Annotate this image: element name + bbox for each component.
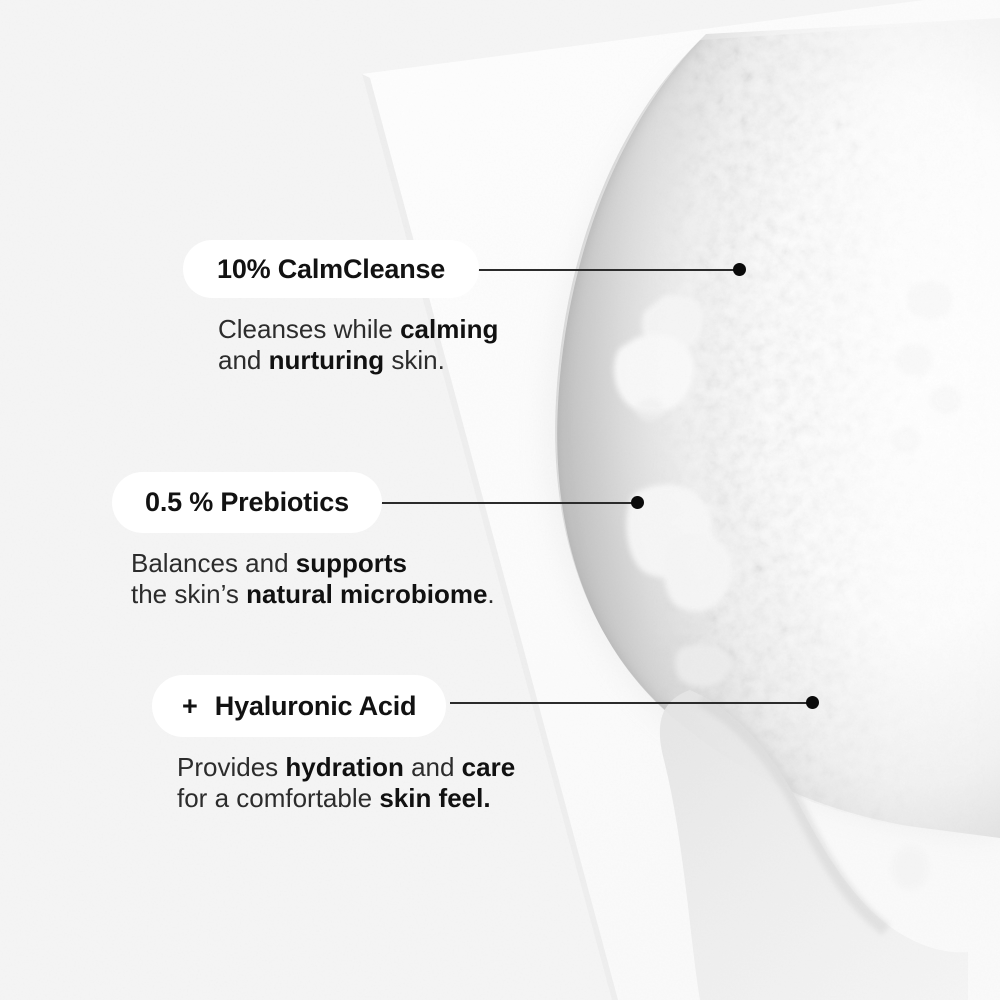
- callout-pill-hyaluronic-acid[interactable]: + Hyaluronic Acid: [152, 675, 446, 737]
- description-line: Balances and supports: [131, 548, 495, 579]
- callout-hyaluronic-acid: + Hyaluronic Acid Provides hydration and…: [152, 675, 515, 814]
- product-ingredient-infographic: 10% CalmCleanse Cleanses while calming a…: [0, 0, 1000, 1000]
- description-line: Provides hydration and care: [177, 752, 515, 783]
- callout-description-hyaluronic-acid: Provides hydration and care for a comfor…: [177, 752, 515, 814]
- description-line: and nurturing skin.: [218, 345, 498, 376]
- plus-icon: +: [182, 693, 198, 720]
- callout-description-calmcleanse: Cleanses while calming and nurturing ski…: [218, 314, 498, 376]
- callout-pill-calmcleanse[interactable]: 10% CalmCleanse: [183, 240, 479, 298]
- leader-dot-3: [806, 696, 819, 709]
- callout-label-prebiotics: 0.5 % Prebiotics: [145, 489, 349, 516]
- callout-calmcleanse: 10% CalmCleanse Cleanses while calming a…: [183, 240, 498, 376]
- leader-dot-2: [631, 496, 644, 509]
- callout-pill-prebiotics[interactable]: 0.5 % Prebiotics: [112, 472, 382, 533]
- description-line: Cleanses while calming: [218, 314, 498, 345]
- callout-prebiotics: 0.5 % Prebiotics Balances and supports t…: [112, 472, 495, 610]
- leader-dot-1: [733, 263, 746, 276]
- callout-label-hyaluronic-acid: Hyaluronic Acid: [215, 693, 417, 720]
- description-line: the skin’s natural microbiome.: [131, 579, 495, 610]
- leader-line-1: [472, 269, 740, 271]
- description-line: for a comfortable skin feel.: [177, 783, 515, 814]
- callout-label-calmcleanse: 10% CalmCleanse: [217, 256, 445, 283]
- callout-description-prebiotics: Balances and supports the skin’s natural…: [131, 548, 495, 610]
